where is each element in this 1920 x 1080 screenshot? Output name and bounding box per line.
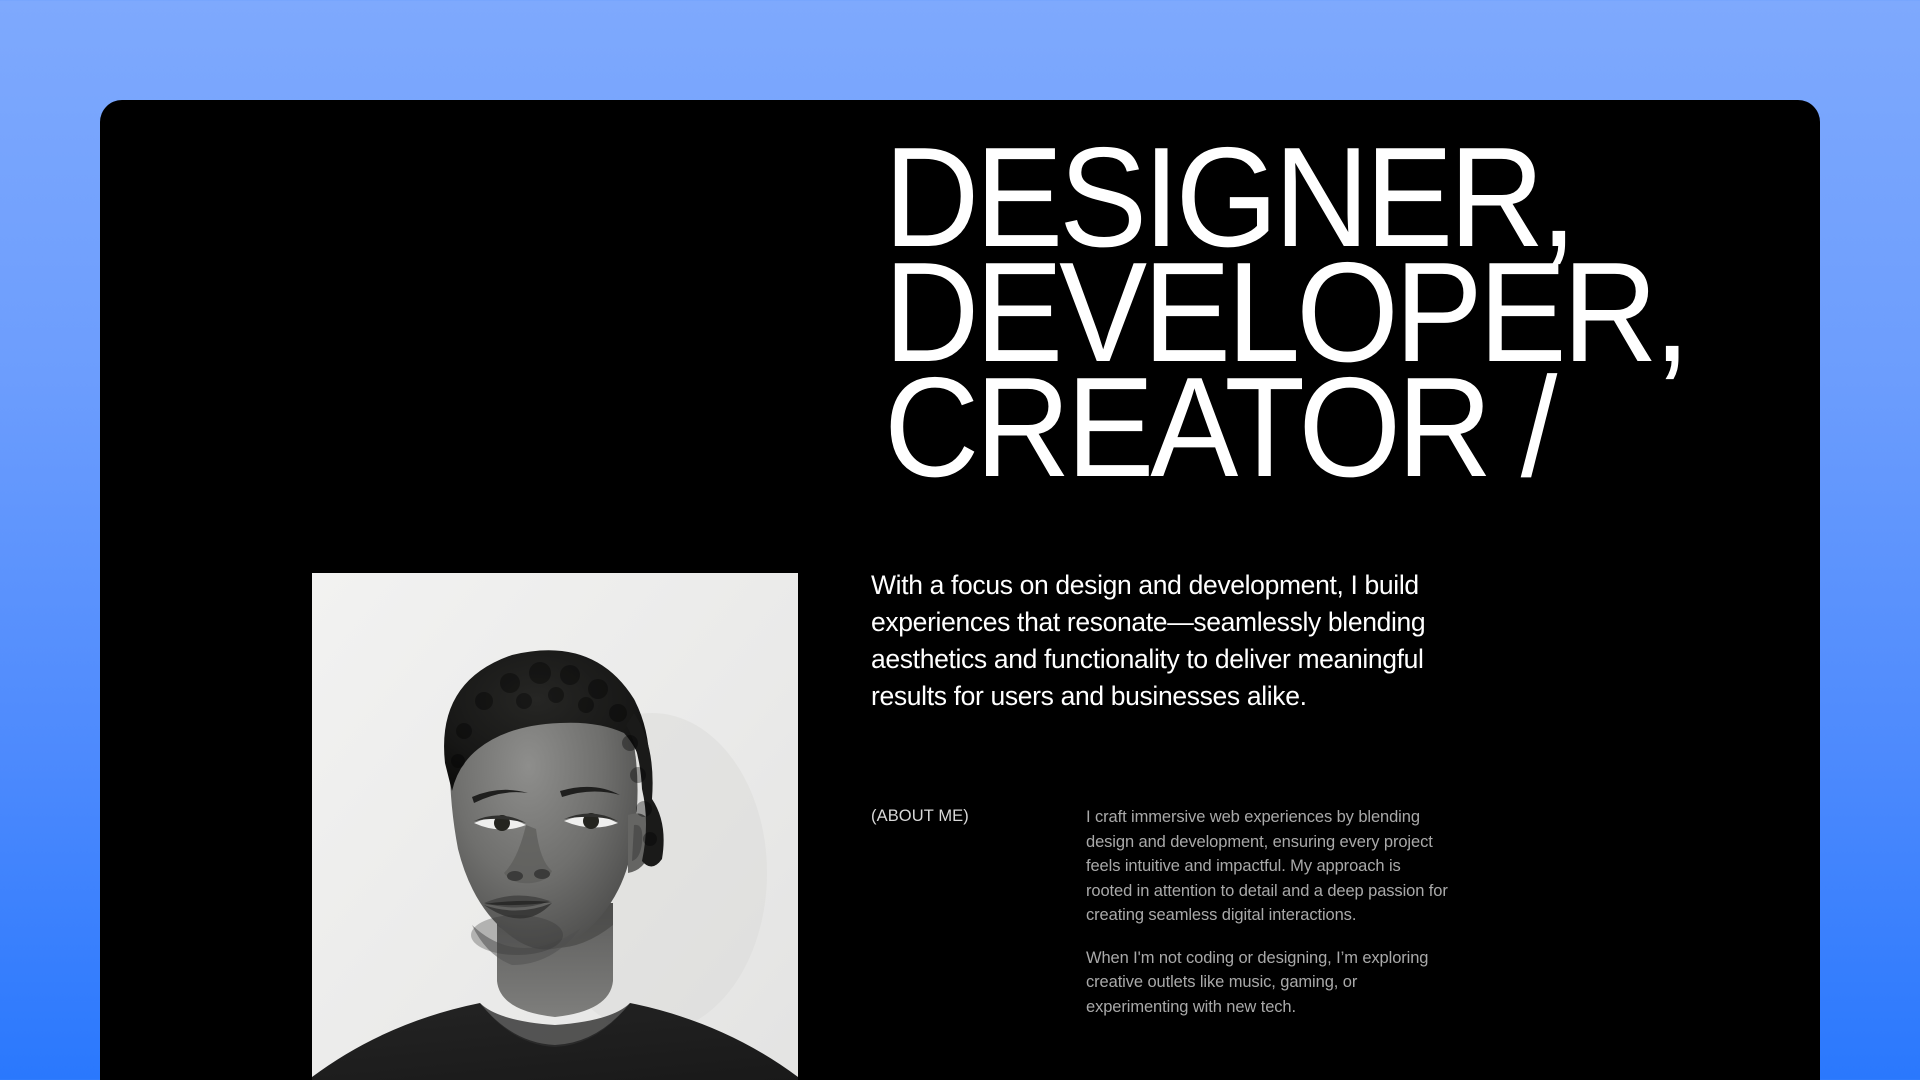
- headline-line-3: CREATOR /: [884, 370, 1721, 485]
- page-title: DESIGNER, DEVELOPER, CREATOR /: [884, 140, 1784, 485]
- about-section: (ABOUT ME) I craft immersive web experie…: [871, 805, 1531, 1019]
- about-paragraph: I craft immersive web experiences by ble…: [1086, 805, 1451, 928]
- portrait-photo-illustration: [312, 573, 798, 1080]
- intro-paragraph: With a focus on design and development, …: [871, 567, 1471, 715]
- about-section-label: (ABOUT ME): [871, 805, 1086, 1019]
- portrait-photo: [312, 573, 798, 1080]
- hero-card: DESIGNER, DEVELOPER, CREATOR / With a fo…: [100, 100, 1820, 1080]
- about-paragraph: When I'm not coding or designing, I’m ex…: [1086, 946, 1451, 1020]
- about-section-body: I craft immersive web experiences by ble…: [1086, 805, 1531, 1019]
